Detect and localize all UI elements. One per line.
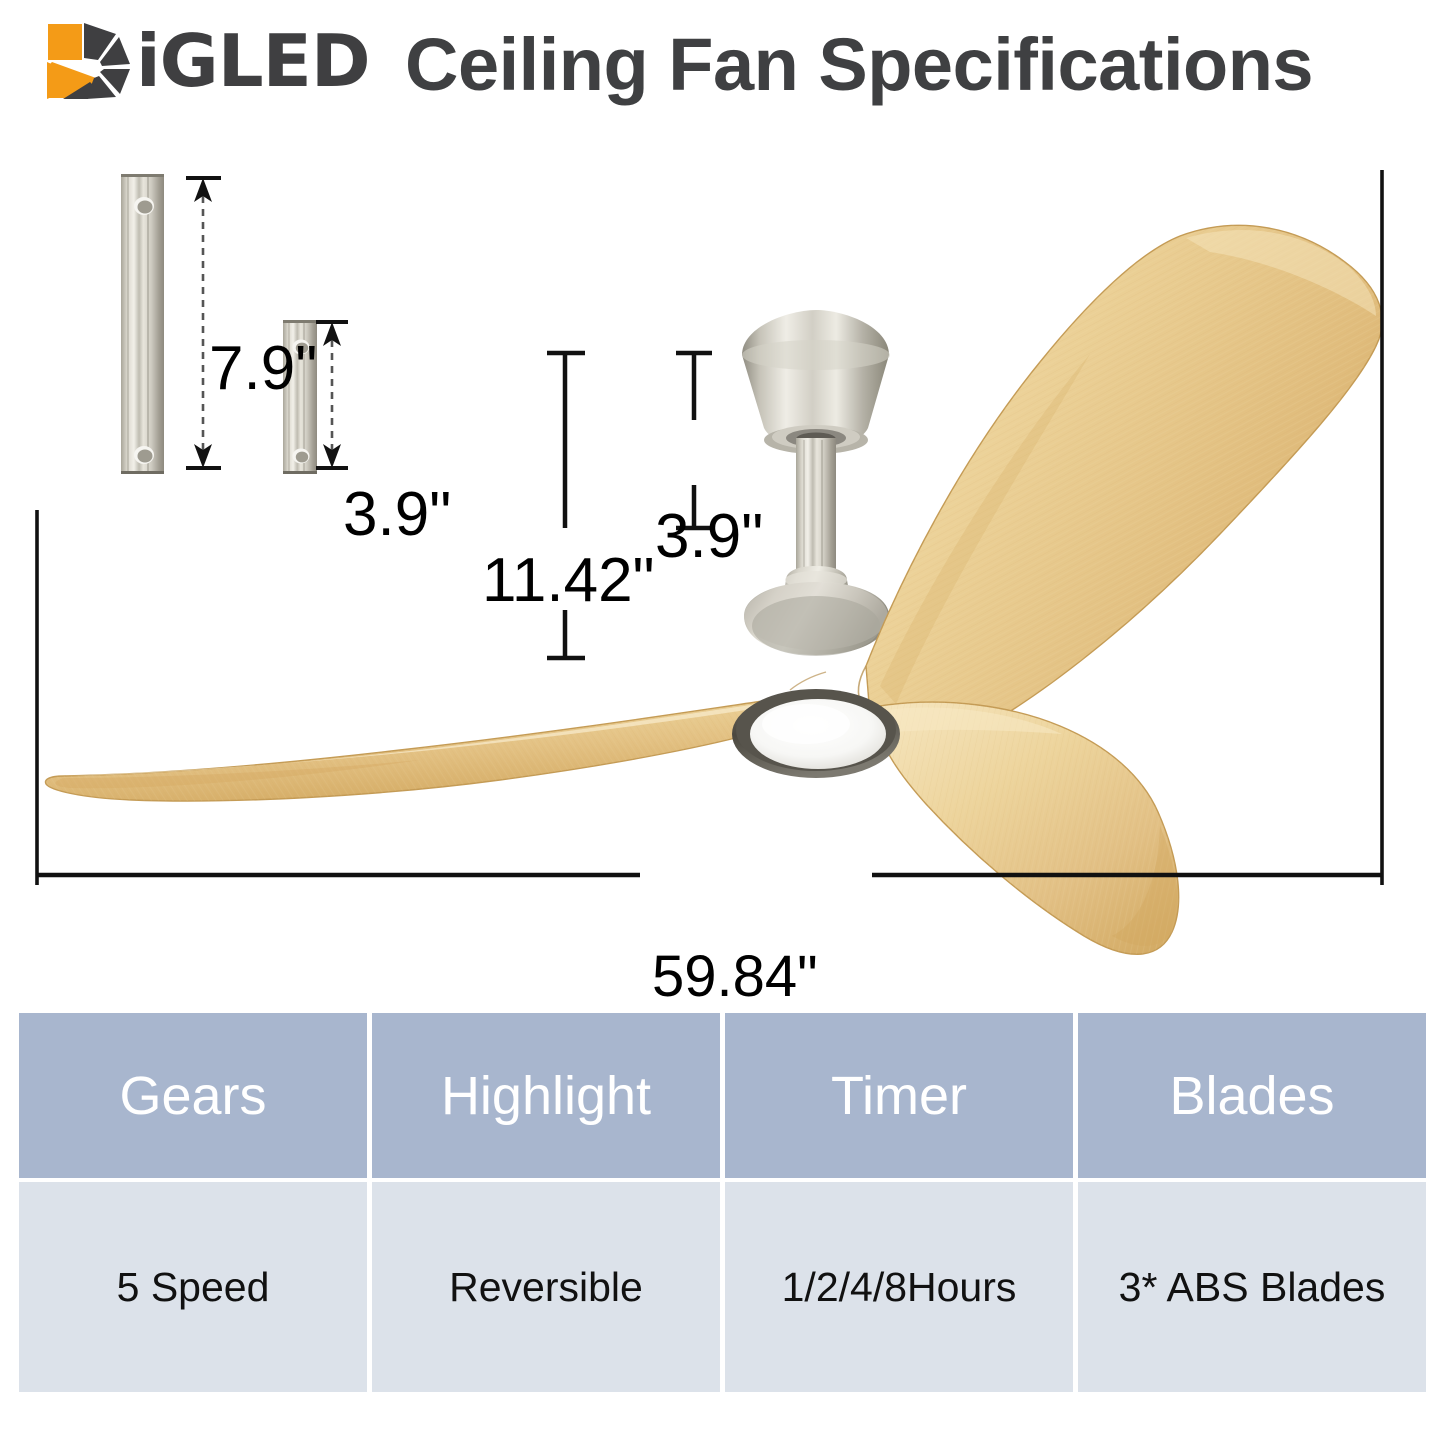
downrod-sample-long [121, 174, 164, 474]
specifications-table: Gears Highlight Timer Blades 5 Speed Rev… [19, 1013, 1426, 1388]
dimension-label-downrod-short: 3.9" [343, 484, 451, 546]
page-header: iGLED Ceiling Fan Specifications [0, 0, 1445, 120]
table-header-blades: Blades [1078, 1013, 1426, 1178]
motor-housing [744, 566, 889, 656]
aperture-logo-icon [38, 20, 134, 102]
canopy [742, 310, 890, 454]
downrod [796, 438, 836, 588]
fan-blade [46, 700, 772, 801]
dimension-downrod-short [316, 322, 348, 468]
fan-blade [878, 702, 1178, 954]
table-cell-blades: 3* ABS Blades [1078, 1182, 1426, 1392]
table-cell-gears: 5 Speed [19, 1182, 367, 1392]
fan-blade [866, 225, 1382, 751]
dimension-label-blade-span: 59.84" [652, 948, 818, 1006]
dimension-label-downrod-long: 7.9" [209, 338, 317, 400]
brand-name: iGLED [136, 25, 370, 97]
brand-logo: iGLED [38, 19, 386, 103]
page-title: Ceiling Fan Specifications [405, 22, 1313, 107]
fan-diagram: 7.9" 3.9" 11.42" 3.9" 59.84" [0, 110, 1445, 990]
table-header-gears: Gears [19, 1013, 367, 1178]
dimension-label-total-height: 11.42" [482, 550, 655, 612]
led-light-kit [732, 689, 900, 778]
table-cell-highlight: Reversible [372, 1182, 720, 1392]
table-header-highlight: Highlight [372, 1013, 720, 1178]
dimension-downrod-long [186, 178, 221, 468]
product-spec-page: iGLED Ceiling Fan Specifications [0, 0, 1445, 1445]
table-cell-timer: 1/2/4/8Hours [725, 1182, 1073, 1392]
dimension-label-drop-height: 3.9" [655, 506, 763, 568]
table-header-timer: Timer [725, 1013, 1073, 1178]
